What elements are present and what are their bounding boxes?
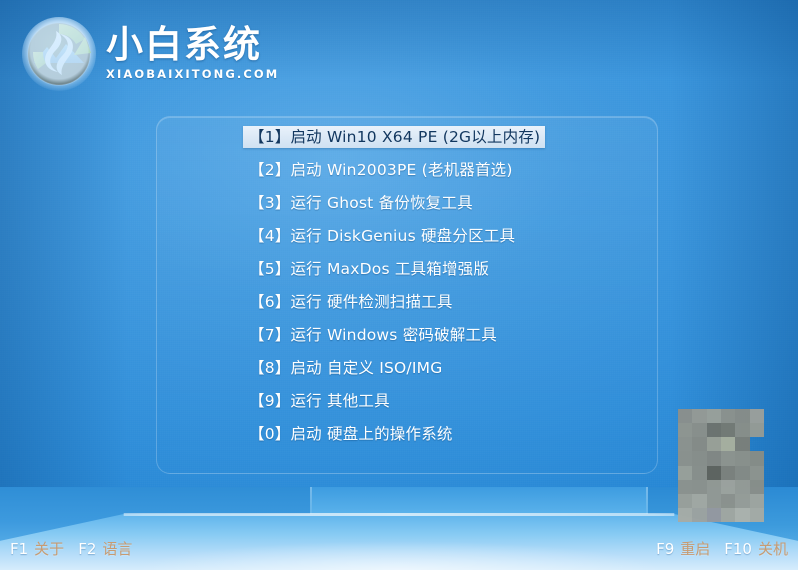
mosaic-cell: [707, 480, 721, 494]
mosaic-cell: [750, 480, 764, 494]
mosaic-cell: [678, 437, 692, 451]
mosaic-cell: [721, 480, 735, 494]
hotkey-key: F10: [724, 539, 752, 559]
mosaic-cell: [735, 494, 749, 508]
hotkey-label: 语言: [102, 539, 132, 559]
mosaic-cell: [721, 437, 735, 451]
mosaic-cell: [735, 480, 749, 494]
stage-seam-right: [646, 487, 648, 516]
menu-item-label: 【3】运行 Ghost 备份恢复工具: [249, 192, 473, 214]
menu-item-label: 【0】启动 硬盘上的操作系统: [249, 423, 453, 445]
mosaic-cell: [735, 451, 749, 465]
mosaic-cell: [750, 423, 764, 437]
censored-mosaic-block: [678, 409, 764, 522]
mosaic-cell: [707, 437, 721, 451]
logo-halo: [22, 17, 96, 91]
mosaic-cell: [750, 437, 764, 451]
brand-name-en: XIAOBAIXITONG.COM: [106, 67, 279, 81]
mosaic-cell: [721, 466, 735, 480]
mosaic-cell: [692, 409, 706, 423]
hotkey-group-right: F9重启F10关机: [656, 539, 788, 559]
mosaic-cell: [721, 451, 735, 465]
menu-item-5[interactable]: 【5】运行 MaxDos 工具箱增强版: [243, 258, 545, 280]
menu-item-label: 【7】运行 Windows 密码破解工具: [249, 324, 497, 346]
menu-item-label: 【9】运行 其他工具: [249, 390, 390, 412]
mosaic-cell: [750, 508, 764, 522]
menu-item-3[interactable]: 【3】运行 Ghost 备份恢复工具: [243, 192, 545, 214]
mosaic-cell: [678, 480, 692, 494]
mosaic-cell: [692, 451, 706, 465]
boot-menu-list[interactable]: 【1】启动 Win10 X64 PE (2G以上内存)【2】启动 Win2003…: [243, 126, 663, 456]
hotkey-key: F2: [78, 539, 96, 559]
hotkey-f9[interactable]: F9重启: [656, 539, 710, 559]
menu-item-label: 【1】启动 Win10 X64 PE (2G以上内存): [249, 126, 540, 148]
mosaic-cell: [692, 494, 706, 508]
boot-menu-screen: 小白系统 XIAOBAIXITONG.COM 【1】启动 Win10 X64 P…: [0, 0, 798, 570]
mosaic-cell: [735, 466, 749, 480]
menu-item-1[interactable]: 【1】启动 Win10 X64 PE (2G以上内存): [243, 126, 545, 148]
menu-item-4[interactable]: 【4】运行 DiskGenius 硬盘分区工具: [243, 225, 545, 247]
menu-item-2[interactable]: 【2】启动 Win2003PE (老机器首选): [243, 159, 545, 181]
mosaic-cell: [678, 466, 692, 480]
menu-item-6[interactable]: 【6】运行 硬件检测扫描工具: [243, 291, 545, 313]
hotkey-label: 重启: [680, 539, 710, 559]
hotkey-key: F1: [10, 539, 28, 559]
brand-name-cn: 小白系统: [106, 25, 279, 65]
hotkey-label: 关机: [758, 539, 788, 559]
menu-item-8[interactable]: 【8】启动 自定义 ISO/IMG: [243, 357, 545, 379]
mosaic-cell: [678, 494, 692, 508]
mosaic-cell: [750, 409, 764, 423]
mosaic-cell: [692, 466, 706, 480]
menu-item-label: 【8】启动 自定义 ISO/IMG: [249, 357, 442, 379]
mosaic-cell: [678, 451, 692, 465]
mosaic-cell: [707, 451, 721, 465]
mosaic-cell: [692, 423, 706, 437]
mosaic-cell: [692, 508, 706, 522]
mosaic-cell: [721, 494, 735, 508]
mosaic-cell: [750, 466, 764, 480]
mosaic-cell: [692, 437, 706, 451]
mosaic-cell: [707, 508, 721, 522]
mosaic-cell: [750, 451, 764, 465]
brand-logo: 小白系统 XIAOBAIXITONG.COM: [22, 14, 292, 94]
mosaic-cell: [678, 409, 692, 423]
hotkey-f1[interactable]: F1关于: [10, 539, 64, 559]
hotkey-f2[interactable]: F2语言: [78, 539, 132, 559]
menu-item-label: 【5】运行 MaxDos 工具箱增强版: [249, 258, 489, 280]
mosaic-cell: [707, 494, 721, 508]
mosaic-cell: [735, 437, 749, 451]
hotkey-label: 关于: [34, 539, 64, 559]
mosaic-cell: [735, 508, 749, 522]
menu-item-label: 【4】运行 DiskGenius 硬盘分区工具: [249, 225, 515, 247]
mosaic-cell: [678, 423, 692, 437]
mosaic-cell: [735, 409, 749, 423]
mosaic-cell: [692, 480, 706, 494]
mosaic-cell: [707, 409, 721, 423]
brand-text: 小白系统 XIAOBAIXITONG.COM: [106, 25, 279, 83]
menu-item-0[interactable]: 【0】启动 硬盘上的操作系统: [243, 423, 545, 445]
hotkey-footer: F1关于F2语言 F9重启F10关机: [0, 536, 798, 562]
menu-item-label: 【6】运行 硬件检测扫描工具: [249, 291, 453, 313]
menu-item-9[interactable]: 【9】运行 其他工具: [243, 390, 545, 412]
stage-seam-left: [310, 487, 312, 516]
menu-item-label: 【2】启动 Win2003PE (老机器首选): [249, 159, 513, 181]
recycle-globe-logo-icon: [22, 17, 96, 91]
mosaic-cell: [707, 466, 721, 480]
menu-item-7[interactable]: 【7】运行 Windows 密码破解工具: [243, 324, 545, 346]
mosaic-cell: [678, 508, 692, 522]
mosaic-cell: [735, 423, 749, 437]
mosaic-cell: [750, 494, 764, 508]
mosaic-cell: [721, 508, 735, 522]
mosaic-cell: [721, 409, 735, 423]
hotkey-group-left: F1关于F2语言: [10, 539, 132, 559]
mosaic-cell: [707, 423, 721, 437]
mosaic-cell: [721, 423, 735, 437]
hotkey-f10[interactable]: F10关机: [724, 539, 788, 559]
hotkey-key: F9: [656, 539, 674, 559]
